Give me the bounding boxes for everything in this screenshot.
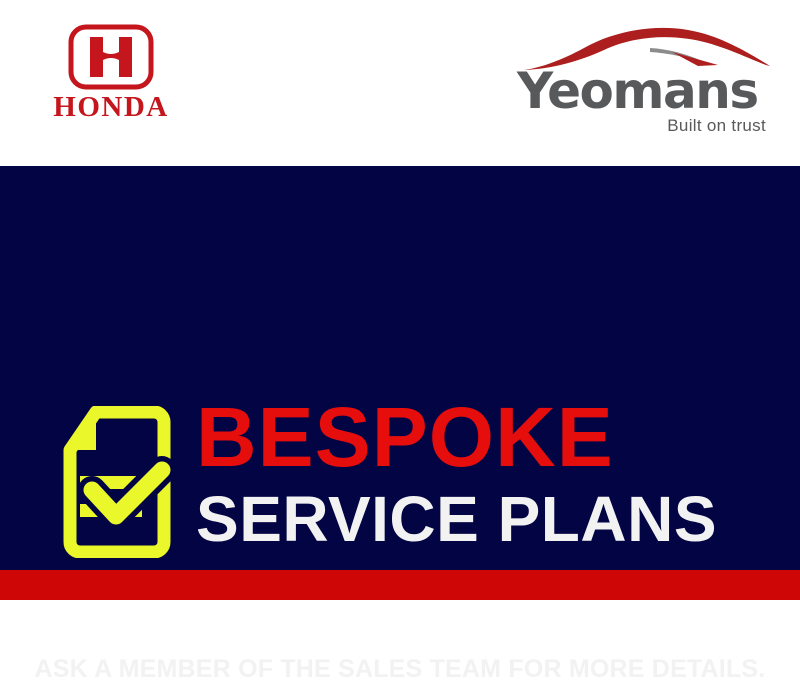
call-to-action-text: ASK A MEMBER OF THE SALES TEAM FOR MORE … bbox=[0, 654, 800, 684]
headline-block: BESPOKE SERVICE PLANS bbox=[196, 394, 776, 554]
bespoke-service-plans-poster: HONDA Yeomans Built on trust bbox=[0, 0, 800, 600]
navy-content-panel: BESPOKE SERVICE PLANS ASK A MEMBER OF TH… bbox=[0, 166, 800, 570]
document-checklist-check-icon bbox=[58, 406, 176, 558]
yeomans-tagline: Built on trust bbox=[667, 116, 766, 136]
honda-h-emblem-icon bbox=[68, 24, 154, 90]
horizontal-divider bbox=[62, 609, 746, 614]
honda-logo: HONDA bbox=[36, 24, 186, 129]
service-plans-heading: SERVICE PLANS bbox=[196, 484, 776, 554]
footer-red-bar bbox=[0, 570, 800, 600]
yeomans-logo: Yeomans Built on trust bbox=[512, 22, 774, 134]
yeomans-wordmark: Yeomans bbox=[517, 64, 758, 118]
honda-wordmark: HONDA bbox=[36, 90, 186, 124]
bespoke-heading: BESPOKE bbox=[196, 394, 776, 480]
header-logo-band: HONDA Yeomans Built on trust bbox=[0, 0, 800, 166]
